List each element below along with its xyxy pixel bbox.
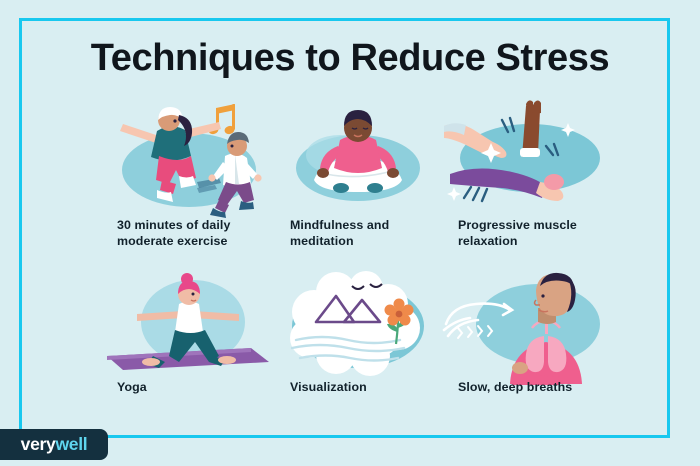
man-breathing-with-lungs-icon — [442, 270, 621, 385]
technique-caption: Slow, deep breaths — [458, 380, 572, 396]
verywell-logo: verywell — [0, 429, 108, 460]
technique-card-visualization: Visualization — [274, 270, 442, 418]
technique-caption: Progressive muscle relaxation — [458, 218, 577, 250]
woman-warrior-pose-on-mat-icon — [101, 270, 274, 385]
woman-meditating-lotus-pose-icon — [274, 100, 442, 215]
logo-text-well: well — [55, 434, 87, 455]
technique-card-breathing: Slow, deep breaths — [442, 270, 621, 418]
infographic-canvas: Techniques to Reduce Stress — [0, 0, 700, 466]
technique-card-muscle-relaxation: Progressive muscle relaxation — [442, 100, 621, 270]
technique-caption: Visualization — [290, 380, 367, 396]
cloud-mountains-and-flower-scene-icon — [274, 270, 442, 385]
techniques-grid: 30 minutes of daily moderate exercise — [101, 100, 621, 418]
technique-card-exercise: 30 minutes of daily moderate exercise — [101, 100, 274, 270]
technique-caption: Mindfulness and meditation — [290, 218, 389, 250]
technique-caption: 30 minutes of daily moderate exercise — [117, 218, 230, 250]
technique-card-yoga: Yoga — [101, 270, 274, 418]
page-title: Techniques to Reduce Stress — [0, 38, 700, 80]
technique-card-mindfulness: Mindfulness and meditation — [274, 100, 442, 270]
technique-caption: Yoga — [117, 380, 147, 396]
logo-text-very: very — [21, 434, 56, 455]
woman-jumping-and-man-running-icon — [101, 100, 274, 215]
hands-and-relaxed-leg-icon — [442, 100, 621, 215]
